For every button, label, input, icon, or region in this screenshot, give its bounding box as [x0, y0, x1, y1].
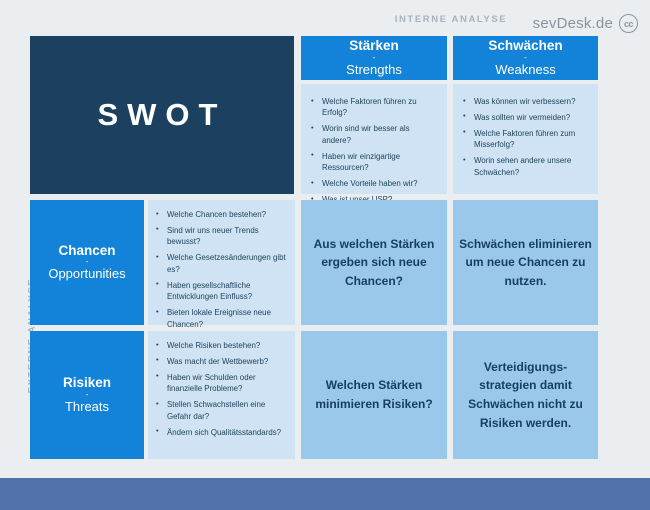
strategy-cell-so: Aus welchen Stärken ergeben sich neue Ch… [298, 200, 450, 331]
strategy-cell-st: Welchen Stärken minimieren Risiken? [298, 331, 450, 465]
strategy-text-st: Welchen Stärken minimieren Risiken? [307, 376, 441, 413]
swot-title-panel: SWOT [30, 36, 294, 194]
list-item: Was können wir verbessern? [461, 96, 588, 107]
list-item: Haben gesellschaftliche Entwicklungen Ei… [154, 280, 287, 303]
column-header-weakness-dash: - [524, 54, 527, 62]
column-header-strengths-dash: - [373, 54, 376, 62]
column-header-weakness-de: Schwächen [488, 38, 562, 54]
row-header-threats-cell: Risiken - Threats [30, 331, 148, 465]
list-item: Worin sind wir besser als andere? [309, 123, 437, 146]
list-item: Welche Gesetzesänderungen gibt es? [154, 252, 287, 275]
opportunities-bullet-list: Welche Chancen bestehen? Sind wir uns ne… [154, 209, 287, 330]
column-header-strengths-de: Stärken [349, 38, 399, 54]
strategy-text-wo: Schwächen eliminieren um neue Chancen zu… [459, 235, 592, 291]
threats-question-cell: Welche Risiken bestehen? Was macht der W… [148, 331, 298, 465]
strategy-box-st[interactable]: Welchen Stärken minimieren Risiken? [301, 331, 447, 459]
strategy-text-wt: Verteidigungs-strategien damit Schwächen… [459, 358, 592, 432]
row-header-opportunities-dash: - [86, 258, 89, 266]
column-strengths: Stärken - Strengths Welche Faktoren führ… [298, 36, 450, 200]
column-header-weakness[interactable]: Schwächen - Weakness [453, 36, 598, 80]
row-header-opportunities-cell: Chancen - Opportunities [30, 200, 148, 331]
list-item: Welche Vorteile haben wir? [309, 178, 437, 189]
creative-commons-icon: cc [619, 14, 638, 33]
row-header-opportunities[interactable]: Chancen - Opportunities [30, 200, 144, 325]
row-header-opportunities-de: Chancen [58, 243, 115, 259]
list-item: Was macht der Wettbewerb? [154, 356, 287, 367]
page-title: SWOT [98, 97, 227, 133]
swot-title-block: SWOT [30, 36, 298, 200]
list-item: Welche Faktoren führen zum Misserfolg? [461, 128, 588, 151]
row-header-threats[interactable]: Risiken - Threats [30, 331, 144, 459]
list-item: Welche Faktoren führen zu Erfolg? [309, 96, 437, 119]
row-header-threats-de: Risiken [63, 375, 111, 391]
strategy-box-so[interactable]: Aus welchen Stärken ergeben sich neue Ch… [301, 200, 447, 325]
list-item: Was sollten wir vermeiden? [461, 112, 588, 123]
swot-matrix: SWOT Stärken - Strengths Welche Faktoren… [30, 36, 601, 465]
strategy-text-so: Aus welchen Stärken ergeben sich neue Ch… [307, 235, 441, 291]
list-item: Welche Risiken bestehen? [154, 340, 287, 351]
list-item: Ändern sich Qualitätsstandards? [154, 427, 287, 438]
list-item: Bieten lokale Ereignisse neue Chancen? [154, 307, 287, 330]
list-item: Welche Chancen bestehen? [154, 209, 287, 220]
list-item: Haben wir einzigartige Ressourcen? [309, 151, 437, 174]
list-item: Haben wir Schulden oder finanzielle Prob… [154, 372, 287, 395]
column-header-weakness-en: Weakness [495, 62, 555, 78]
strategy-cell-wt: Verteidigungs-strategien damit Schwächen… [450, 331, 601, 465]
weakness-bullet-list: Was können wir verbessern? Was sollten w… [461, 96, 588, 178]
column-header-strengths-en: Strengths [346, 62, 402, 78]
opportunities-question-cell: Welche Chancen bestehen? Sind wir uns ne… [148, 200, 298, 331]
list-item: Sind wir uns neuer Trends bewusst? [154, 225, 287, 248]
list-item: Worin sehen andere unsere Schwächen? [461, 155, 588, 178]
strategy-cell-wo: Schwächen eliminieren um neue Chancen zu… [450, 200, 601, 331]
footer-band [0, 478, 650, 510]
column-header-strengths[interactable]: Stärken - Strengths [301, 36, 447, 80]
threats-question-box: Welche Risiken bestehen? Was macht der W… [148, 331, 295, 459]
threats-bullet-list: Welche Risiken bestehen? Was macht der W… [154, 340, 287, 438]
column-weakness: Schwächen - Weakness Was können wir verb… [450, 36, 601, 200]
strengths-question-box: Welche Faktoren führen zu Erfolg? Worin … [301, 84, 447, 194]
row-header-threats-dash: - [86, 391, 89, 399]
weakness-question-box: Was können wir verbessern? Was sollten w… [453, 84, 598, 194]
row-header-threats-en: Threats [65, 399, 109, 415]
strengths-bullet-list: Welche Faktoren führen zu Erfolg? Worin … [309, 96, 437, 206]
strategy-box-wt[interactable]: Verteidigungs-strategien damit Schwächen… [453, 331, 598, 459]
opportunities-question-box: Welche Chancen bestehen? Sind wir uns ne… [148, 200, 295, 325]
strategy-box-wo[interactable]: Schwächen eliminieren um neue Chancen zu… [453, 200, 598, 325]
row-header-opportunities-en: Opportunities [48, 266, 125, 282]
brand-name[interactable]: sevDesk.de [533, 15, 613, 32]
list-item: Stellen Schwachstellen eine Gefahr dar? [154, 399, 287, 422]
footer-branding: sevDesk.de cc [533, 14, 638, 33]
